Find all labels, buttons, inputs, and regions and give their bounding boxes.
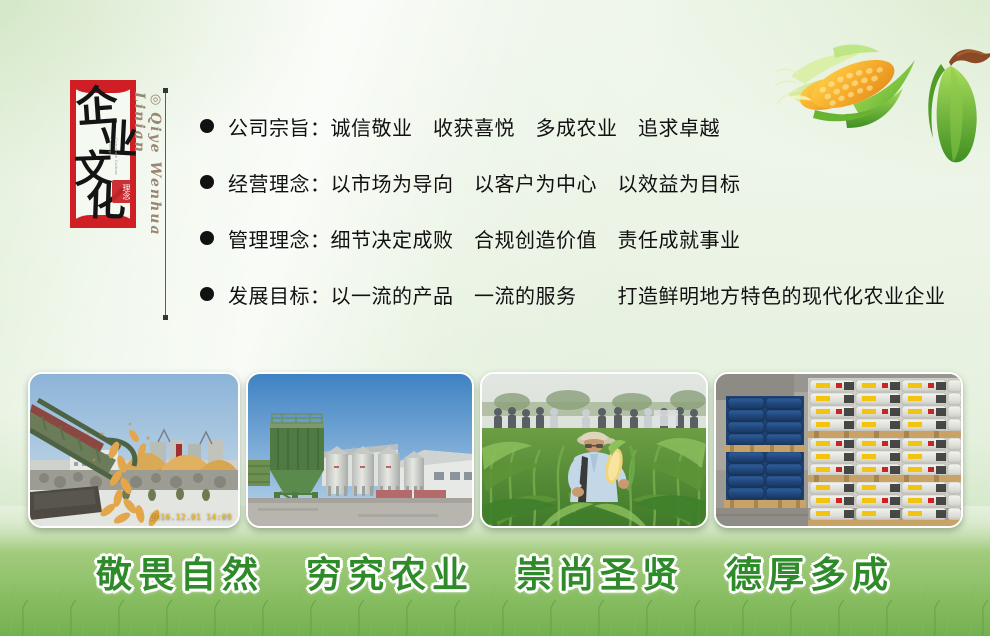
red-stamp: 理念 [112,180,131,203]
list-item: 经营理念：以市场为导向 以客户为中心 以效益为目标 [200,154,990,210]
list-item: 公司宗旨：诚信敬业 收获喜悦 多成农业 追求卓越 [200,98,990,154]
culture-statement-list: 公司宗旨：诚信敬业 收获喜悦 多成农业 追求卓越 经营理念：以市场为导向 以客户… [200,98,990,322]
photo-strip: 2016.12.01 14:09 [0,372,990,530]
bullet-dot-icon [200,287,214,301]
bullet-dot-icon [200,231,214,245]
title-block: 企 业 文 化 Corporate Culture Concept 理念 [70,80,140,230]
list-item-text: 公司宗旨：诚信敬业 收获喜悦 多成农业 追求卓越 [228,112,720,141]
list-item-text: 经营理念：以市场为导向 以客户为中心 以效益为目标 [228,168,741,197]
bullet-dot-icon [200,175,214,189]
vertical-divider [165,90,166,318]
title-pinyin: ◎Qiye Wenhua Linian [131,92,163,292]
ring-icon: ◎ [148,92,163,109]
divider-cap-top [163,88,168,93]
culture-poster: 企 业 文 化 Corporate Culture Concept 理念 ◎Qi… [0,0,990,636]
list-item: 发展目标：以一流的产品 一流的服务 打造鲜明地方特色的现代化农业企业 [200,266,990,322]
list-item: 管理理念：细节决定成败 合规创造价值 责任成就事业 [200,210,990,266]
photo-farmer-cornfield [480,372,708,528]
list-item-text: 发展目标：以一流的产品 一流的服务 打造鲜明地方特色的现代化农业企业 [228,280,946,309]
photo-corn-unloading: 2016.12.01 14:09 [28,372,240,528]
photo-grain-silos [246,372,474,528]
bottom-slogan: 敬畏自然 穷究农业 崇尚圣贤 德厚多成 [0,546,990,598]
photo-warehouse-bags [714,372,963,528]
divider-cap-bottom [163,315,168,320]
photo-timestamp: 2016.12.01 14:09 [150,513,232,522]
page-title: 企 业 文 化 [72,84,134,224]
micro-english-caption: Corporate Culture Concept [105,138,119,180]
pinyin-text: Qiye Wenhua Linian [131,92,163,237]
bullet-dot-icon [200,119,214,133]
list-item-text: 管理理念：细节决定成败 合规创造价值 责任成就事业 [228,224,741,253]
